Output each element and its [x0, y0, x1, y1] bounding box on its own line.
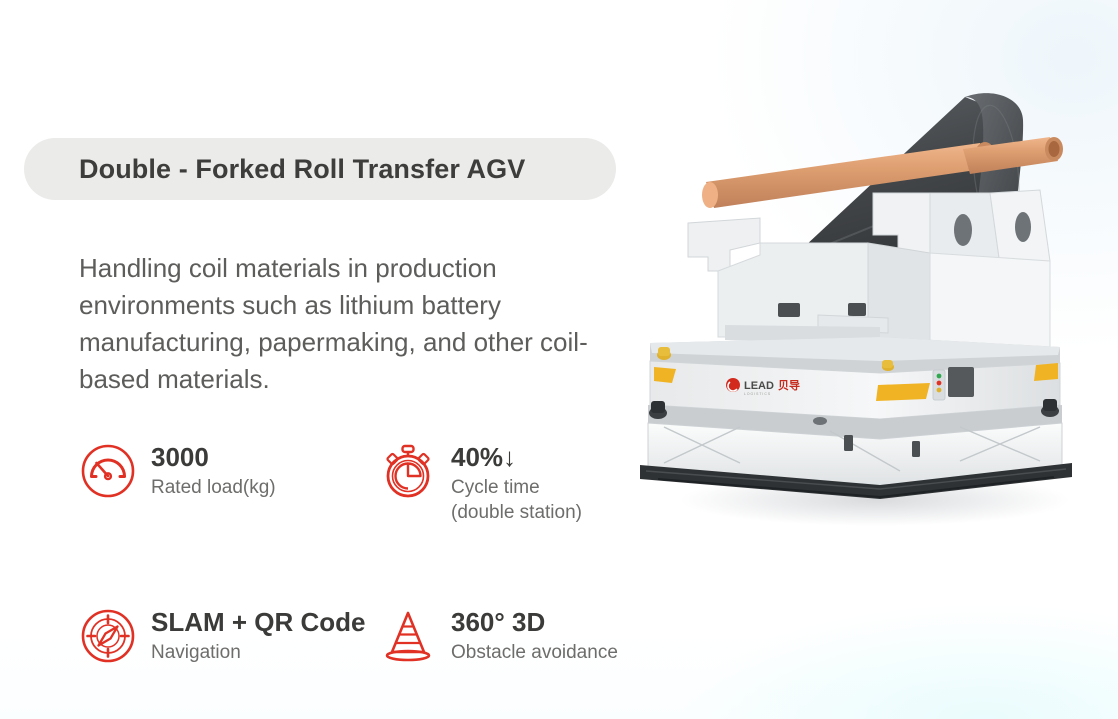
spec-label: Rated load(kg)	[151, 475, 276, 500]
svg-text:贝导: 贝导	[778, 379, 800, 392]
spec-item-rated-load: 3000 Rated load(kg)	[79, 440, 379, 525]
spec-value: 40%↓	[451, 442, 582, 472]
traffic-cone-icon	[379, 607, 437, 665]
spec-list: 3000 Rated load(kg)	[79, 440, 679, 665]
marker-yellow-front	[876, 383, 930, 401]
page-title: Double - Forked Roll Transfer AGV	[79, 154, 525, 185]
spec-text: 360° 3D Obstacle avoidance	[451, 605, 618, 665]
product-image-agv: LEAD 贝导 LOGISTICS	[630, 75, 1110, 530]
gauge-icon	[79, 442, 137, 500]
spec-text: 40%↓ Cycle time (double station)	[451, 440, 582, 525]
spec-row: 3000 Rated load(kg)	[79, 440, 679, 525]
spec-item-navigation: SLAM + QR Code Navigation	[79, 605, 379, 665]
spec-text: 3000 Rated load(kg)	[151, 440, 276, 500]
compass-icon	[79, 607, 137, 665]
agv-illustration: LEAD 贝导 LOGISTICS	[630, 75, 1110, 530]
spec-value: 3000	[151, 442, 276, 472]
spec-value: SLAM + QR Code	[151, 607, 366, 637]
slide-background: Double - Forked Roll Transfer AGV Handli…	[0, 0, 1118, 719]
spec-row: SLAM + QR Code Navigation 360° 3D	[79, 605, 679, 665]
spec-label: Obstacle avoidance	[451, 640, 618, 665]
svg-text:LOGISTICS: LOGISTICS	[744, 392, 771, 396]
title-pill: Double - Forked Roll Transfer AGV	[24, 138, 616, 200]
stopwatch-icon	[379, 442, 437, 500]
description-text: Handling coil materials in production en…	[79, 250, 649, 398]
spec-label: Cycle time	[451, 475, 582, 500]
spec-value: 360° 3D	[451, 607, 618, 637]
spec-text: SLAM + QR Code Navigation	[151, 605, 366, 665]
spec-item-obstacle-avoidance: 360° 3D Obstacle avoidance	[379, 605, 679, 665]
spec-label-secondary: (double station)	[451, 500, 582, 525]
marker-yellow-right	[1034, 363, 1058, 381]
spec-label: Navigation	[151, 640, 366, 665]
svg-text:LEAD: LEAD	[744, 380, 774, 392]
